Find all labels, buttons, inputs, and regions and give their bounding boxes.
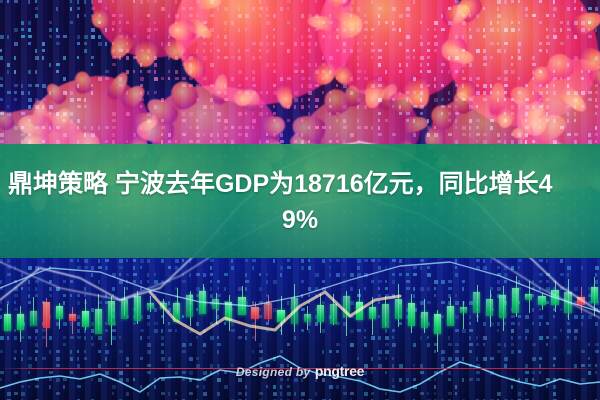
candle-body — [330, 304, 337, 325]
candle-body — [291, 298, 298, 324]
candle-wick — [150, 296, 151, 312]
candle-body — [277, 310, 284, 322]
virus-spike — [528, 110, 571, 146]
candle-wick — [294, 284, 295, 332]
virus-spike — [43, 81, 68, 107]
virus-spike — [441, 37, 466, 62]
candle-body — [199, 291, 206, 314]
virus-spike — [192, 0, 222, 9]
candle-wick — [216, 293, 217, 324]
headline-line-1: 鼎坤策略 宁波去年GDP为18716亿元，同比增长4 — [8, 170, 553, 198]
virus-spike — [0, 108, 17, 133]
candle-body — [225, 302, 232, 321]
candle-wick — [20, 306, 21, 342]
candle-body — [447, 306, 454, 327]
virus-spike — [401, 74, 434, 112]
virus-spike — [18, 113, 54, 138]
candle-wick — [411, 294, 412, 333]
virus-spike — [307, 14, 343, 33]
watermark-prefix: Designed by — [236, 365, 311, 379]
candle-body — [591, 287, 598, 303]
virus-spike — [322, 0, 355, 11]
candle-wick — [450, 297, 451, 324]
stock-market-virus-banner: 鼎坤策略 宁波去年GDP为18716亿元，同比增长4 9% Designed b… — [0, 0, 600, 400]
candle-wick — [72, 307, 73, 334]
virus-spike — [332, 11, 363, 38]
virus-spike — [48, 106, 74, 136]
candle-wick — [229, 295, 230, 331]
virus-spike — [179, 51, 208, 82]
virus-spike — [343, 84, 363, 108]
candle-body — [56, 306, 63, 318]
candle-wick — [437, 310, 438, 353]
candle-wick — [398, 284, 399, 326]
virus-particle — [443, 0, 600, 131]
virus-spike — [452, 0, 485, 26]
virus-particle — [305, 0, 482, 116]
series-cyan-moving-average — [0, 262, 600, 312]
virus-spike — [527, 0, 559, 1]
watermark-brand: pngtree — [315, 363, 364, 379]
virus-spike — [106, 27, 139, 63]
candle-wick — [177, 288, 178, 314]
virus-spike — [450, 90, 475, 117]
candle-wick — [463, 301, 464, 330]
candle-body — [30, 311, 37, 326]
candle-body — [343, 296, 350, 317]
candle-body — [134, 296, 141, 322]
candle-body — [173, 303, 180, 322]
virus-spike — [495, 106, 516, 130]
candle-body — [356, 302, 363, 320]
candle-wick — [385, 296, 386, 327]
candle-wick — [59, 303, 60, 329]
candle-wick — [85, 299, 86, 330]
candle-body — [147, 303, 154, 309]
candle-wick — [568, 279, 569, 320]
candle-body — [538, 296, 545, 305]
candle-wick — [490, 290, 491, 327]
candle-wick — [307, 306, 308, 330]
candle-body — [82, 311, 89, 327]
candle-body — [369, 307, 376, 319]
candle-wick — [542, 293, 543, 310]
virus-particle — [165, 0, 364, 116]
candle-wick — [346, 291, 347, 336]
virus-spike — [143, 93, 181, 127]
virus-spike — [105, 70, 132, 103]
virus-particle — [75, 0, 229, 75]
virus-spike — [181, 14, 214, 42]
candle-wick — [46, 298, 47, 347]
candle-body — [551, 290, 558, 305]
virus-spike — [89, 7, 113, 31]
candle-wick — [203, 284, 204, 313]
candle-wick — [242, 286, 243, 310]
virus-spike — [362, 74, 390, 111]
candle-body — [238, 297, 245, 315]
virus-spike — [578, 47, 600, 73]
candle-body — [499, 295, 506, 318]
candle-wick — [137, 291, 138, 325]
candle-wick — [190, 291, 191, 327]
candle-body — [160, 303, 167, 309]
candle-body — [460, 307, 467, 314]
candle-wick — [163, 299, 164, 324]
candle-wick — [333, 294, 334, 326]
virus-spike — [73, 71, 93, 95]
candle-wick — [124, 287, 125, 316]
virus-spike — [518, 97, 549, 128]
candle-body — [212, 299, 219, 309]
virus-spike — [231, 85, 255, 109]
watermark: Designed by pngtree — [0, 363, 600, 381]
virus-spike — [511, 125, 535, 141]
virus-spike — [318, 0, 359, 12]
page-title: 鼎坤策略 宁波去年GDP为18716亿元，同比增长4 9% — [8, 166, 592, 238]
virus-spike — [166, 76, 202, 112]
candle-wick — [529, 281, 530, 313]
candle-wick — [581, 287, 582, 313]
candle-wick — [268, 295, 269, 322]
candle-body — [577, 297, 584, 305]
virus-spike — [320, 85, 354, 119]
candle-body — [486, 299, 493, 316]
candle-wick — [372, 297, 373, 335]
virus-spike — [118, 82, 149, 112]
virus-spike — [453, 77, 480, 104]
virus-spike — [235, 85, 264, 114]
candle-body — [304, 314, 311, 322]
virus-spike — [331, 61, 359, 89]
candle-body — [421, 312, 428, 328]
virus-spike — [587, 62, 600, 90]
candle-body — [525, 294, 532, 300]
virus-spike — [518, 100, 550, 137]
candle-body — [4, 314, 11, 331]
candle-wick — [7, 304, 8, 331]
candle-body — [17, 314, 24, 330]
series-gold-zigzag — [150, 292, 400, 334]
candle-wick — [111, 296, 112, 345]
virus-spike — [274, 81, 295, 110]
virus-spike — [375, 81, 401, 113]
virus-spike — [529, 64, 555, 90]
virus-spike — [310, 59, 340, 90]
virus-spike — [212, 74, 229, 107]
virus-spike — [136, 118, 175, 143]
candle-body — [564, 292, 571, 313]
candle-body — [186, 295, 193, 317]
candle-wick — [255, 302, 256, 341]
virus-spike — [556, 82, 590, 116]
candle-body — [512, 288, 519, 313]
candle-body — [121, 299, 128, 319]
virus-spike — [132, 112, 158, 132]
candle-body — [473, 292, 480, 313]
virus-spike — [507, 82, 546, 115]
candle-body — [108, 301, 115, 325]
candle-body — [382, 304, 389, 328]
candle-body — [43, 302, 50, 328]
candle-body — [69, 314, 76, 321]
candle-body — [395, 299, 402, 319]
virus-spike — [133, 38, 158, 68]
virus-spike — [386, 88, 418, 120]
candle-body — [251, 307, 258, 319]
virus-spike — [290, 111, 328, 144]
headline-line-2: 9% — [8, 202, 592, 238]
virus-spike — [438, 0, 472, 28]
virus-spike — [544, 52, 576, 82]
candle-wick — [503, 286, 504, 332]
candle-wick — [359, 289, 360, 320]
candle-wick — [281, 296, 282, 335]
candle-wick — [555, 281, 556, 313]
candle-wick — [98, 294, 99, 329]
virus-spike — [161, 34, 187, 63]
virus-spike — [29, 100, 48, 128]
virus-spike — [487, 82, 505, 117]
candle-body — [264, 303, 271, 319]
candle-wick — [424, 299, 425, 333]
virus-spike — [168, 20, 196, 41]
candle-wick — [594, 277, 595, 316]
candle-wick — [516, 276, 517, 317]
virus-spike — [567, 7, 600, 38]
candle-body — [317, 305, 324, 322]
virus-spike — [399, 115, 428, 134]
virus-spike — [427, 100, 459, 132]
candle-body — [95, 309, 102, 334]
virus-spike — [443, 44, 475, 67]
candle-body — [408, 303, 415, 326]
candle-wick — [477, 285, 478, 322]
candle-wick — [33, 297, 34, 324]
virus-spike — [259, 113, 287, 138]
candle-body — [434, 314, 441, 334]
candle-wick — [320, 294, 321, 332]
